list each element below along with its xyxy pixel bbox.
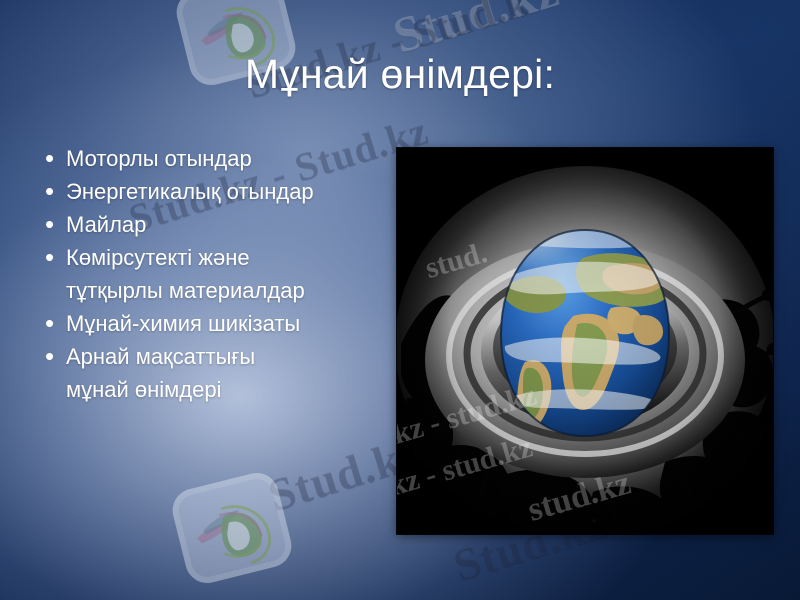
bullet-text: мұнай өнімдері: [66, 373, 222, 406]
bullet-text: Арнай мақсаттығы: [66, 340, 255, 373]
bullet-text: Мұнай-химия шикізаты: [66, 307, 300, 340]
bullet-marker-icon: •: [34, 208, 66, 241]
bullet-item: •Көмірсутекті және: [34, 241, 394, 274]
watermark-logo-icon: [168, 468, 296, 587]
bullet-list: •Моторлы отындар•Энергетикалық отындар•М…: [34, 142, 394, 406]
presentation-slide: Stud.kzStud.kz - Stud.kStud.kz - Stud.kz…: [0, 0, 800, 600]
bullet-item: •Майлар: [34, 208, 394, 241]
bullet-marker-icon: •: [34, 175, 66, 208]
bullet-item: •Мұнай-химия шикізаты: [34, 307, 394, 340]
bullet-text: тұтқырлы материалдар: [66, 274, 305, 307]
bullet-item: •Моторлы отындар: [34, 142, 394, 175]
bullet-item: •мұнай өнімдері: [34, 373, 394, 406]
globe-oil-illustration: [397, 148, 773, 534]
bullet-item: •Арнай мақсаттығы: [34, 340, 394, 373]
bullet-text: Көмірсутекті және: [66, 241, 250, 274]
bullet-marker-icon: •: [34, 307, 66, 340]
bullet-text: Майлар: [66, 208, 146, 241]
bullet-marker-icon: •: [34, 142, 66, 175]
bullet-item: •тұтқырлы материалдар: [34, 274, 394, 307]
bullet-text: Моторлы отындар: [66, 142, 252, 175]
bullet-item: •Энергетикалық отындар: [34, 175, 394, 208]
bullet-text: Энергетикалық отындар: [66, 175, 314, 208]
bullet-marker-icon: •: [34, 340, 66, 373]
slide-title: Мұнай өнімдері:: [0, 52, 800, 98]
slide-image-globe-in-oil: stud.kz - stud.kzstud.kzkz - stud.kz: [397, 148, 773, 534]
bullet-marker-icon: •: [34, 241, 66, 274]
